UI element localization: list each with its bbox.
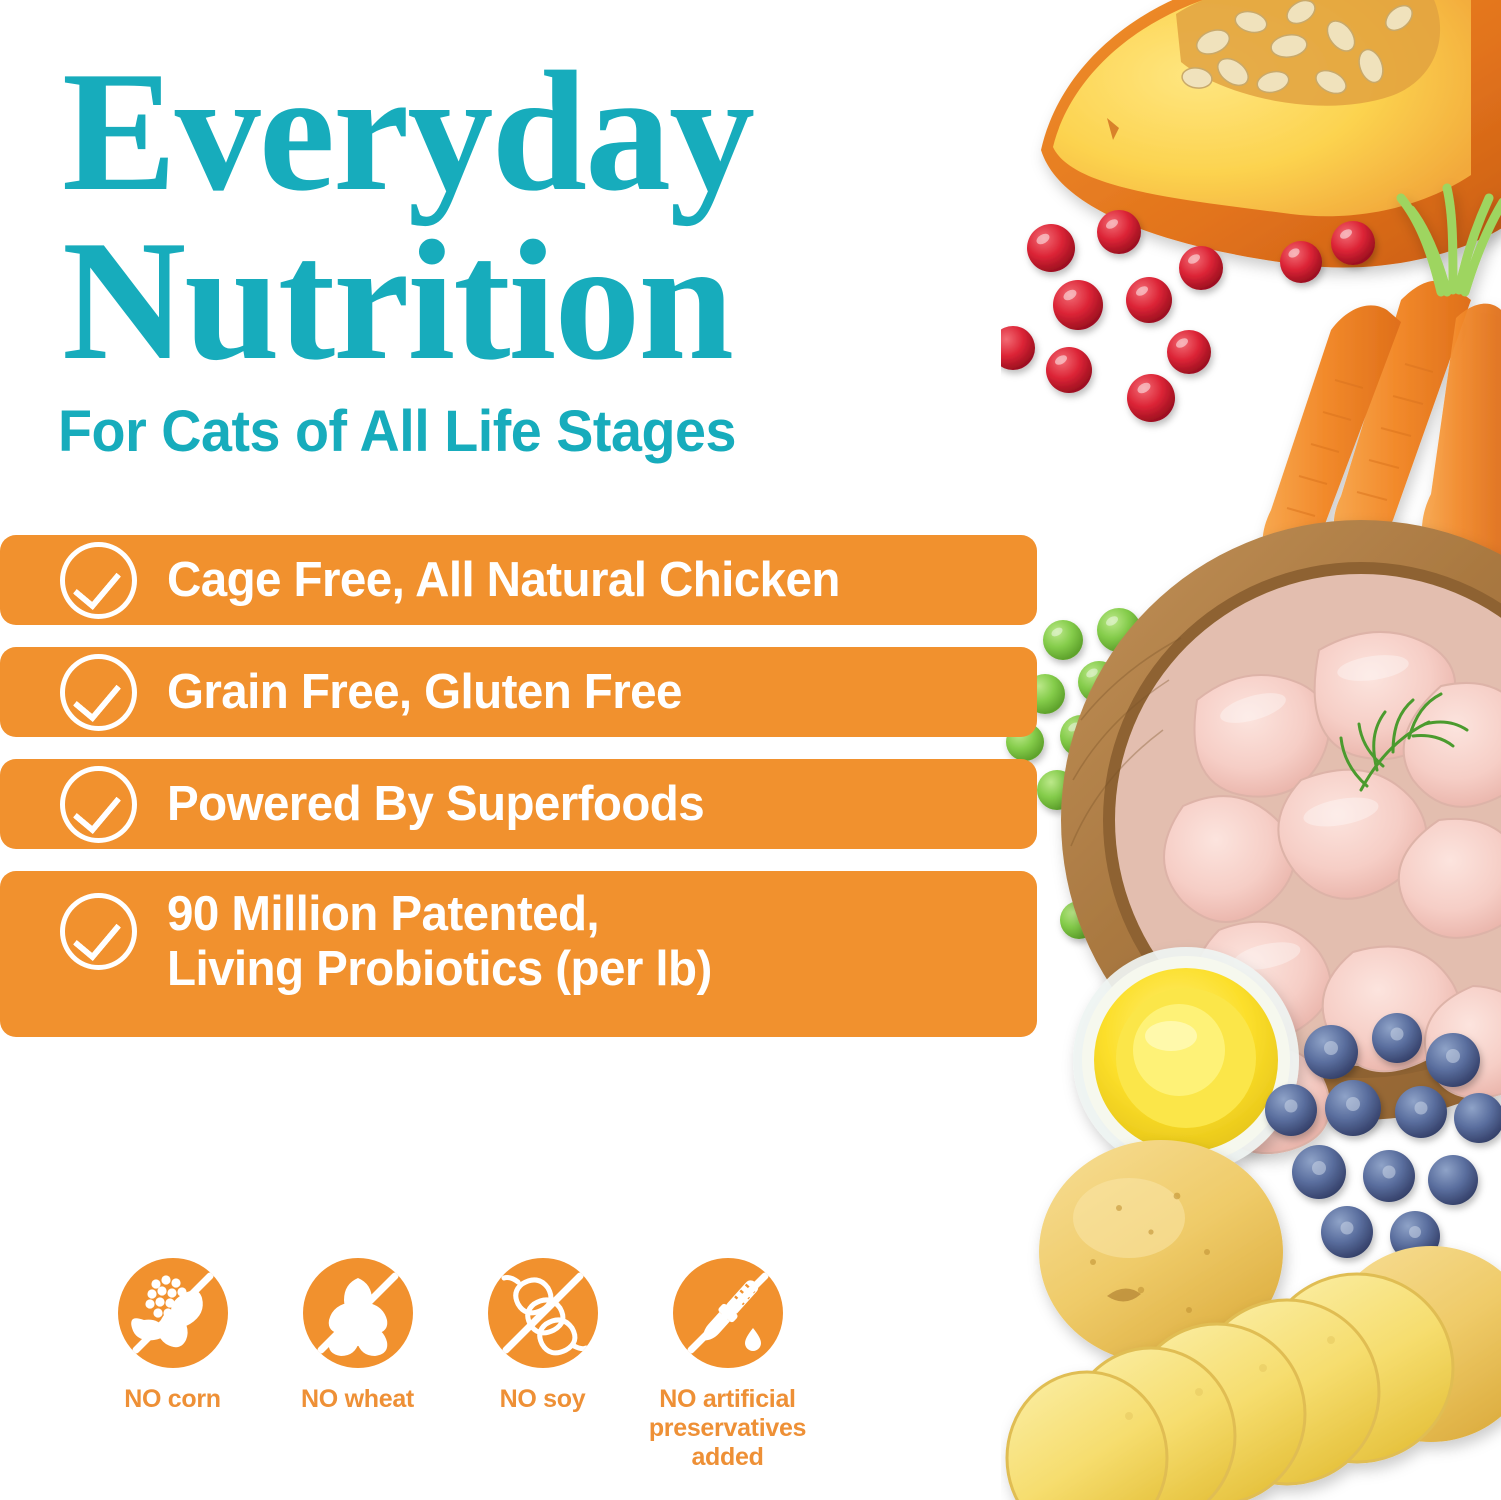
claim-no-soy: NO soy — [450, 1258, 635, 1472]
headline-line-2: Nutrition — [62, 217, 962, 386]
feature-bar: Cage Free, All Natural Chicken — [0, 535, 1037, 625]
collage-svg — [1001, 0, 1501, 1500]
feature-label: 90 Million Patented, Living Probiotics (… — [167, 887, 712, 997]
no-preservatives-icon — [673, 1258, 783, 1368]
claim-no-wheat: NO wheat — [265, 1258, 450, 1472]
claim-no-preservatives: NO artificial preservatives added — [635, 1258, 820, 1472]
page-title: Everyday Nutrition — [62, 48, 962, 385]
check-circle-icon — [60, 542, 137, 619]
no-soy-icon — [488, 1258, 598, 1368]
no-wheat-icon — [303, 1258, 413, 1368]
food-photography-collage — [1001, 0, 1501, 1500]
claim-label: NO corn — [124, 1385, 221, 1414]
feature-label: Cage Free, All Natural Chicken — [167, 553, 840, 608]
feature-label: Grain Free, Gluten Free — [167, 665, 682, 720]
claim-label: NO soy — [500, 1385, 586, 1414]
page-subtitle: For Cats of All Life Stages — [58, 398, 736, 465]
claim-no-corn: NO corn — [80, 1258, 265, 1472]
check-circle-icon — [60, 893, 137, 970]
feature-label: Powered By Superfoods — [167, 777, 704, 832]
feature-bar: 90 Million Patented, Living Probiotics (… — [0, 871, 1037, 1037]
claim-label: NO artificial preservatives added — [635, 1385, 820, 1472]
product-feature-panel: Everyday Nutrition For Cats of All Life … — [0, 0, 1501, 1500]
exclusion-claims-row: NO corn NO wheat — [80, 1258, 820, 1472]
bowl-of-oil — [1073, 947, 1299, 1173]
claim-label: NO wheat — [301, 1385, 414, 1414]
feature-bar: Powered By Superfoods — [0, 759, 1037, 849]
check-circle-icon — [60, 654, 137, 731]
feature-bar: Grain Free, Gluten Free — [0, 647, 1037, 737]
no-corn-icon — [118, 1258, 228, 1368]
check-circle-icon — [60, 766, 137, 843]
feature-list: Cage Free, All Natural Chicken Grain Fre… — [0, 535, 1037, 1059]
headline-line-1: Everyday — [62, 48, 962, 217]
